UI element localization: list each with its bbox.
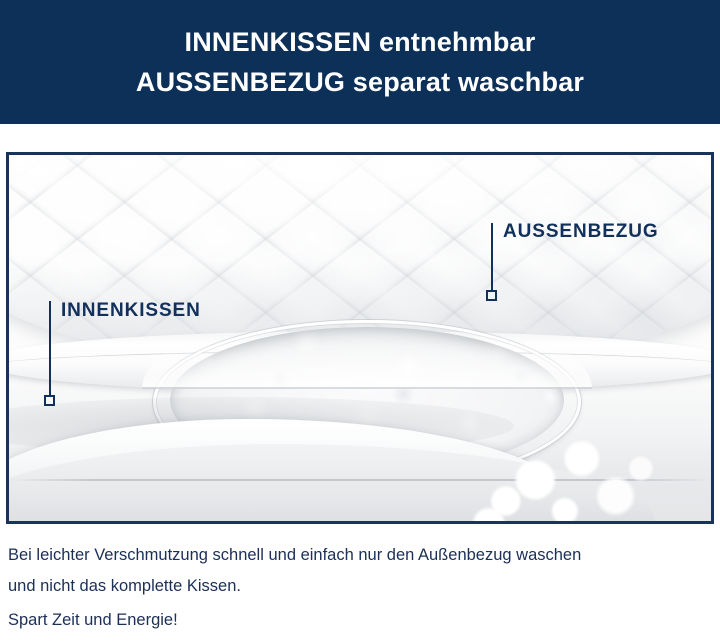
banner-headline-line-2: AUSSENBEZUG separat waschbar: [136, 63, 584, 101]
header-banner: INNENKISSEN entnehmbar AUSSENBEZUG separ…: [0, 0, 720, 124]
product-photo: INNENKISSEN AUSSENBEZUG: [9, 155, 711, 521]
description-text-block: Bei leichter Verschmutzung schnell und e…: [8, 540, 712, 636]
description-line-2: und nicht das komplette Kissen.: [8, 571, 712, 602]
product-photo-frame: INNENKISSEN AUSSENBEZUG: [6, 152, 714, 524]
callout-square-marker-aussenbezug: [486, 290, 497, 301]
loose-fibre-fill-cluster: [472, 411, 683, 521]
callout-leader-line-innenkissen: [49, 301, 51, 396]
callout-label-aussenbezug: AUSSENBEZUG: [503, 221, 659, 243]
callout-label-innenkissen: INNENKISSEN: [61, 300, 201, 322]
banner-headline-line-1: INNENKISSEN entnehmbar: [185, 23, 536, 61]
description-line-3: Spart Zeit und Energie!: [8, 605, 712, 636]
callout-square-marker-innenkissen: [44, 395, 55, 406]
callout-leader-line-aussenbezug: [491, 223, 493, 291]
description-line-1: Bei leichter Verschmutzung schnell und e…: [8, 540, 712, 571]
